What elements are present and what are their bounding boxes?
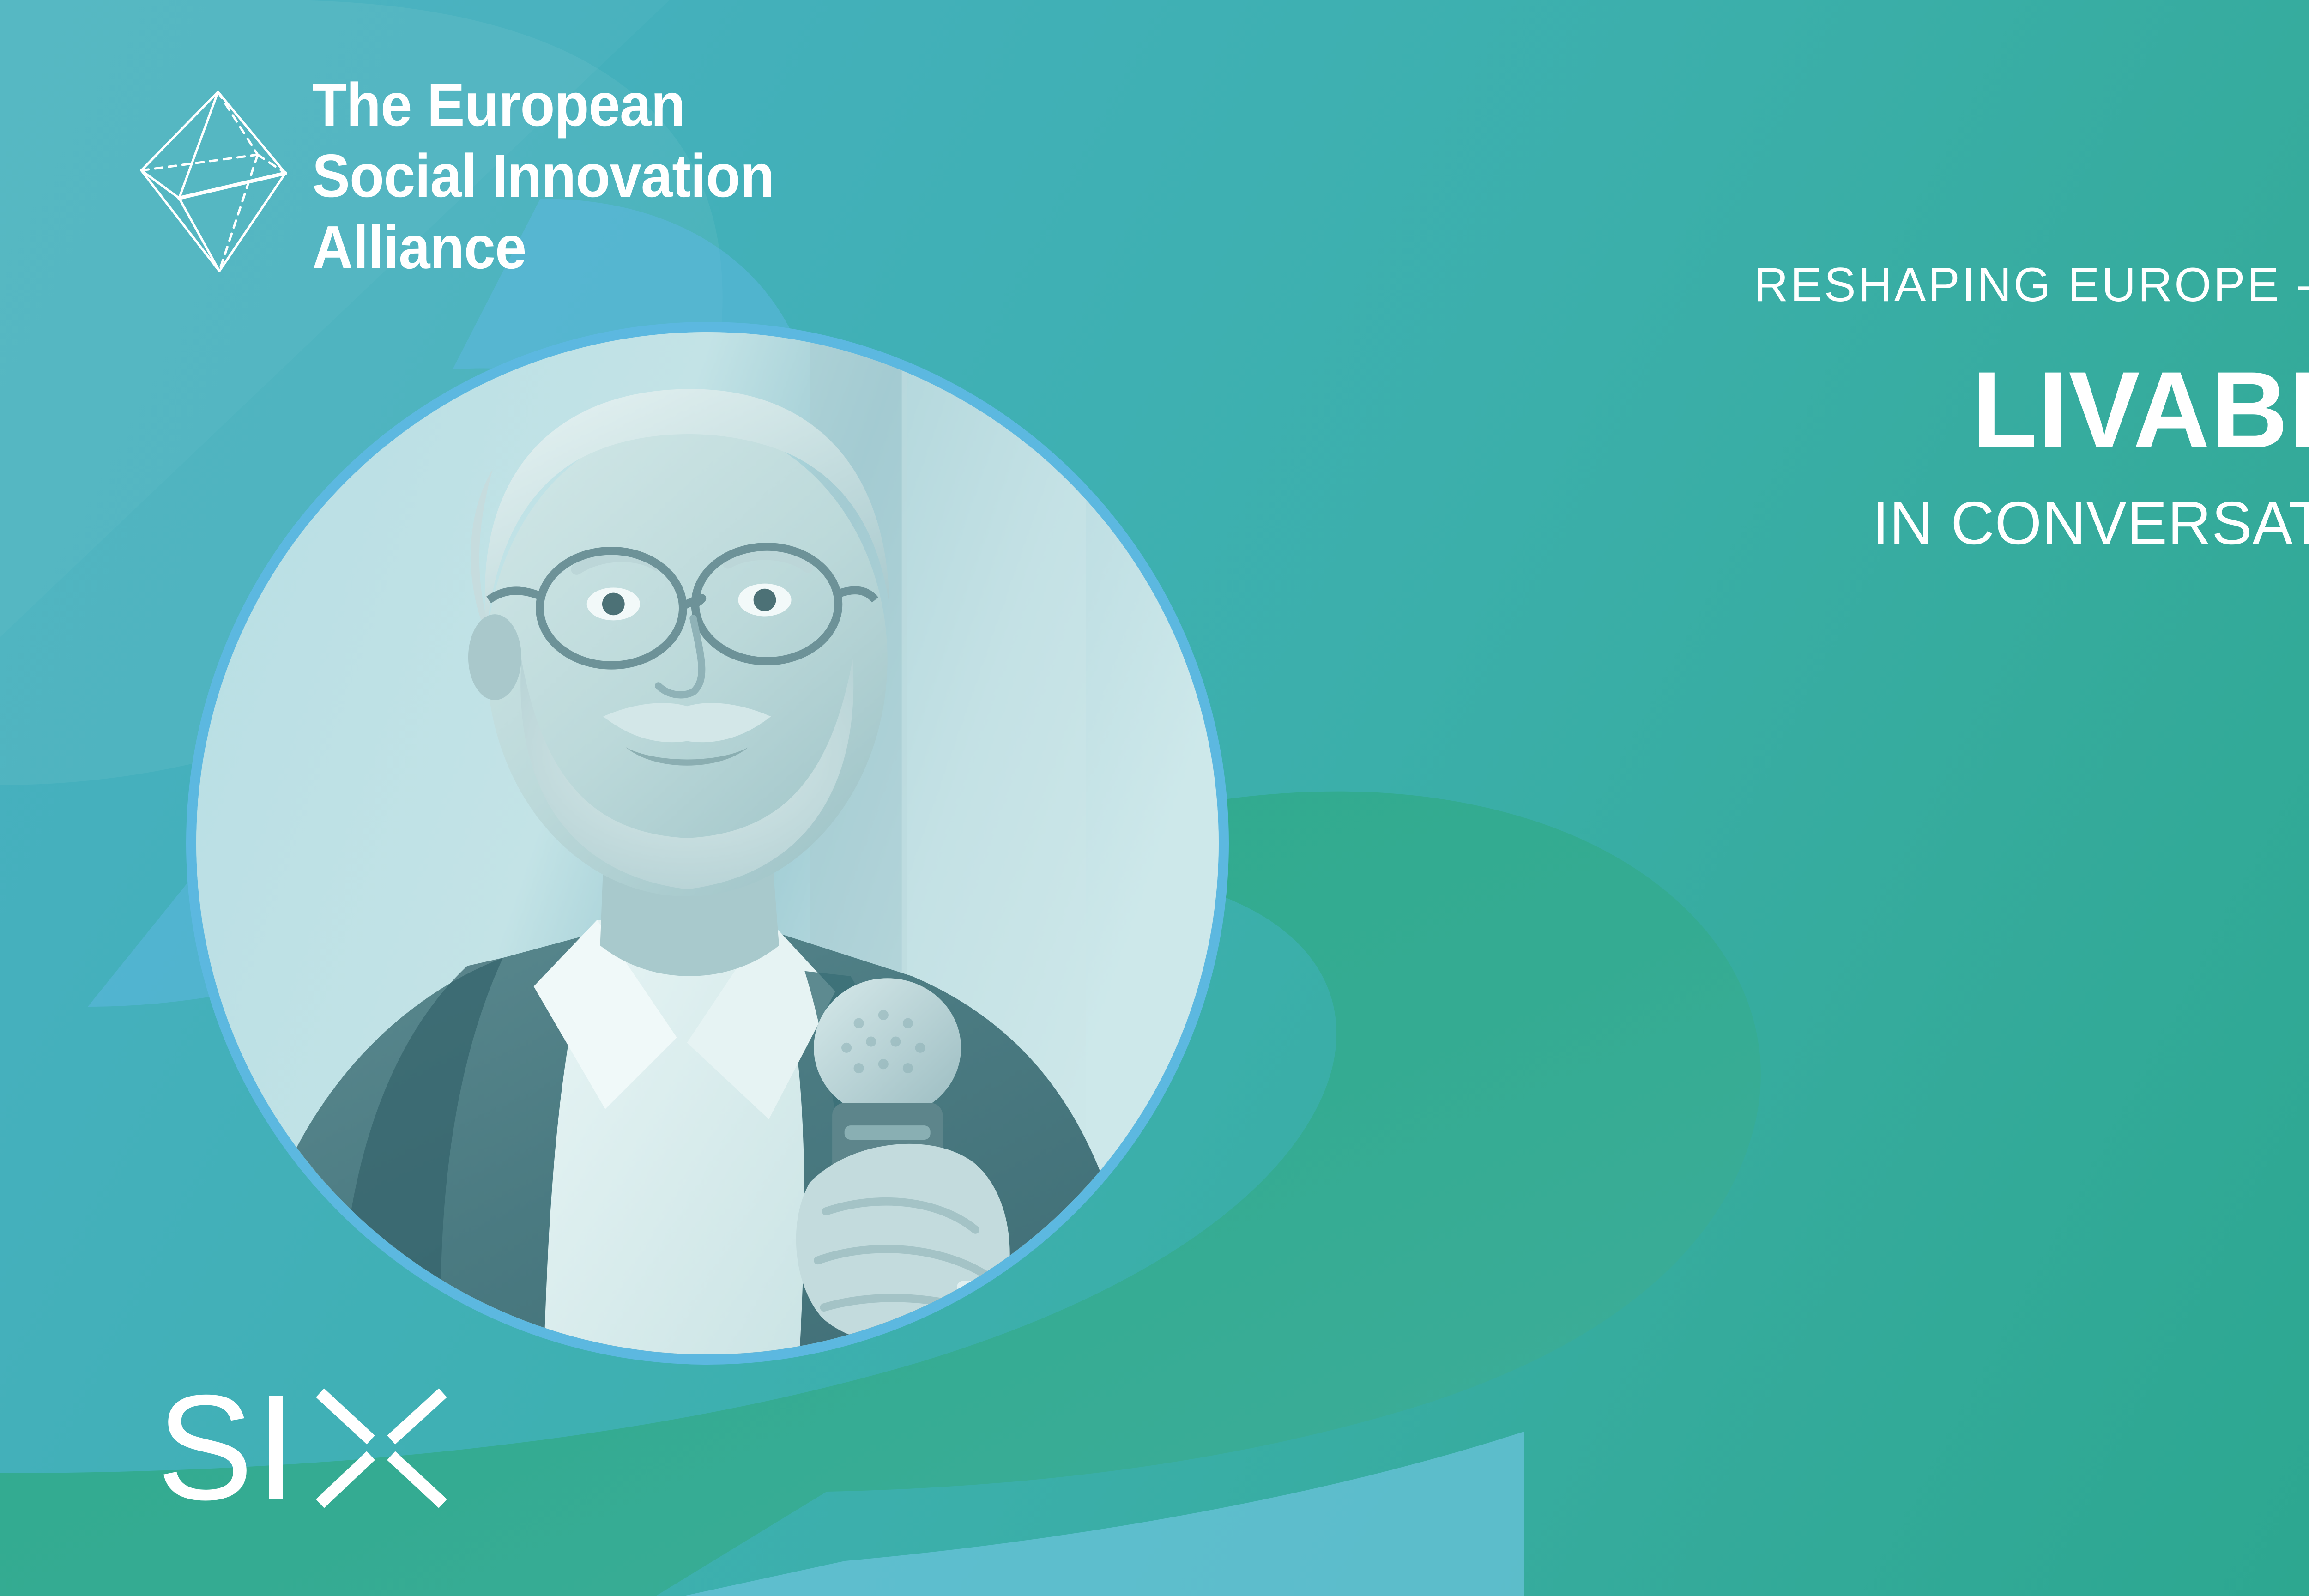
event-subtitle: IN CONVERSATION WITH EZIO MANZINI [1490, 491, 2309, 556]
event-time: 3pm GMT/ 4pm CET [1668, 1088, 2309, 1160]
event-day: MONDAY [1668, 901, 2309, 963]
six-logo: SI [157, 1381, 450, 1515]
event-mode: Online [1668, 1163, 2309, 1235]
event-date: 14 Nov 2022 [1668, 968, 2309, 1078]
event-title: LIVABLE PROXIMITY [1505, 356, 2309, 465]
headline-column: RESHAPING EUROPE - A GLOBAL DIALOGUE SER… [1474, 259, 2309, 556]
six-logo-letters: SI [157, 1373, 299, 1523]
speaker-portrait-image [196, 332, 1219, 1354]
esia-logo: The EuropeanSocial InnovationAlliance [139, 69, 809, 283]
esia-wordmark: The EuropeanSocial InnovationAlliance [312, 69, 774, 283]
esia-wordmark-line-2: Social Innovation [312, 142, 774, 210]
series-eyebrow: RESHAPING EUROPE - A GLOBAL DIALOGUE SER… [1490, 259, 2309, 311]
six-logo-x-icon [312, 1385, 450, 1510]
event-banner: The EuropeanSocial InnovationAlliance [0, 0, 2309, 1596]
octahedron-wireframe-icon [139, 73, 291, 280]
speaker-portrait-circle [186, 322, 1229, 1365]
esia-wordmark-line-1: The European [312, 71, 685, 139]
event-details-block: MONDAY 14 Nov 2022 3pm GMT/ 4pm CET Onli… [1668, 901, 2309, 1234]
esia-wordmark-line-3: Alliance [312, 213, 526, 281]
